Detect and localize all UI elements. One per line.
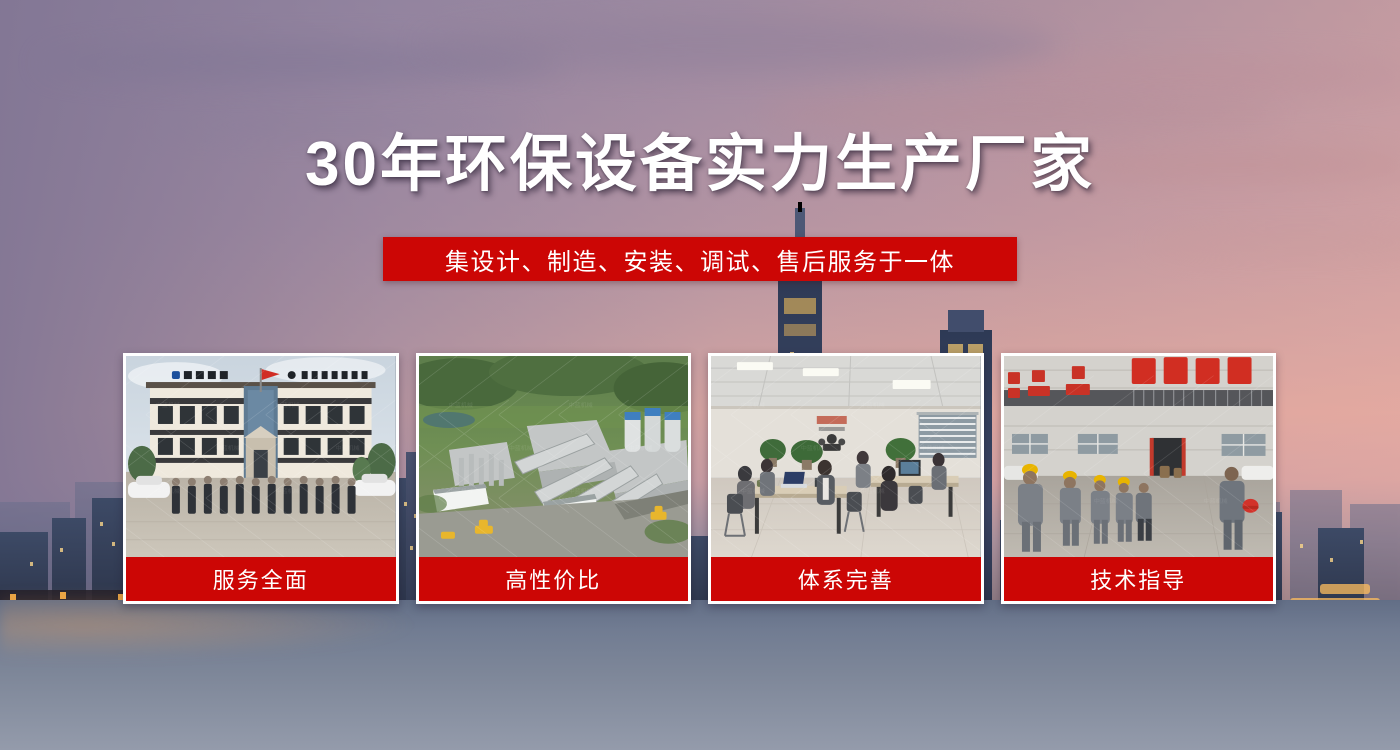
feature-card[interactable]: 中蓝机械中蓝机械 中蓝机械中蓝机械 中蓝机械中蓝机械 高性价比 (416, 353, 692, 604)
feature-card-label: 服务全面 (126, 557, 396, 601)
feature-card[interactable]: 中蓝机械中蓝机械 中蓝机械中蓝机械 中蓝机械中蓝机械 体系完善 (708, 353, 984, 604)
company-headquarters-building-with-staff-image: 中蓝机械中蓝机械 中蓝机械中蓝机械 中蓝机械中蓝机械 (126, 356, 396, 557)
office-interior-staff-working-image: 中蓝机械中蓝机械 中蓝机械中蓝机械 中蓝机械中蓝机械 (711, 356, 981, 557)
feature-card-label: 体系完善 (711, 557, 981, 601)
feature-card[interactable]: 中蓝机械中蓝机械 技术指导 (1001, 353, 1277, 604)
aerial-view-industrial-production-plant-image: 中蓝机械中蓝机械 中蓝机械中蓝机械 中蓝机械中蓝机械 (419, 356, 689, 557)
feature-card[interactable]: 中蓝机械中蓝机械 中蓝机械中蓝机械 中蓝机械中蓝机械 服务全面 (123, 353, 399, 604)
cloud-shape (760, 96, 1280, 132)
subtitle-text: 集设计、制造、安装、调试、售后服务于一体 (445, 242, 955, 277)
factory-workers-technical-briefing-image: 中蓝机械中蓝机械 (1004, 356, 1274, 557)
cloud-shape (980, 56, 1400, 96)
feature-card-label: 高性价比 (419, 557, 689, 601)
subtitle-banner: 集设计、制造、安装、调试、售后服务于一体 (383, 237, 1017, 281)
feature-card-label: 技术指导 (1004, 557, 1274, 601)
page-title: 30年环保设备实力生产厂家 (0, 132, 1400, 197)
cloud-shape (420, 18, 1060, 74)
promo-banner: 30年环保设备实力生产厂家 集设计、制造、安装、调试、售后服务于一体 (0, 0, 1400, 750)
feature-card-list: 中蓝机械中蓝机械 中蓝机械中蓝机械 中蓝机械中蓝机械 服务全面 (123, 353, 1276, 604)
cloud-shape (1150, 230, 1400, 256)
